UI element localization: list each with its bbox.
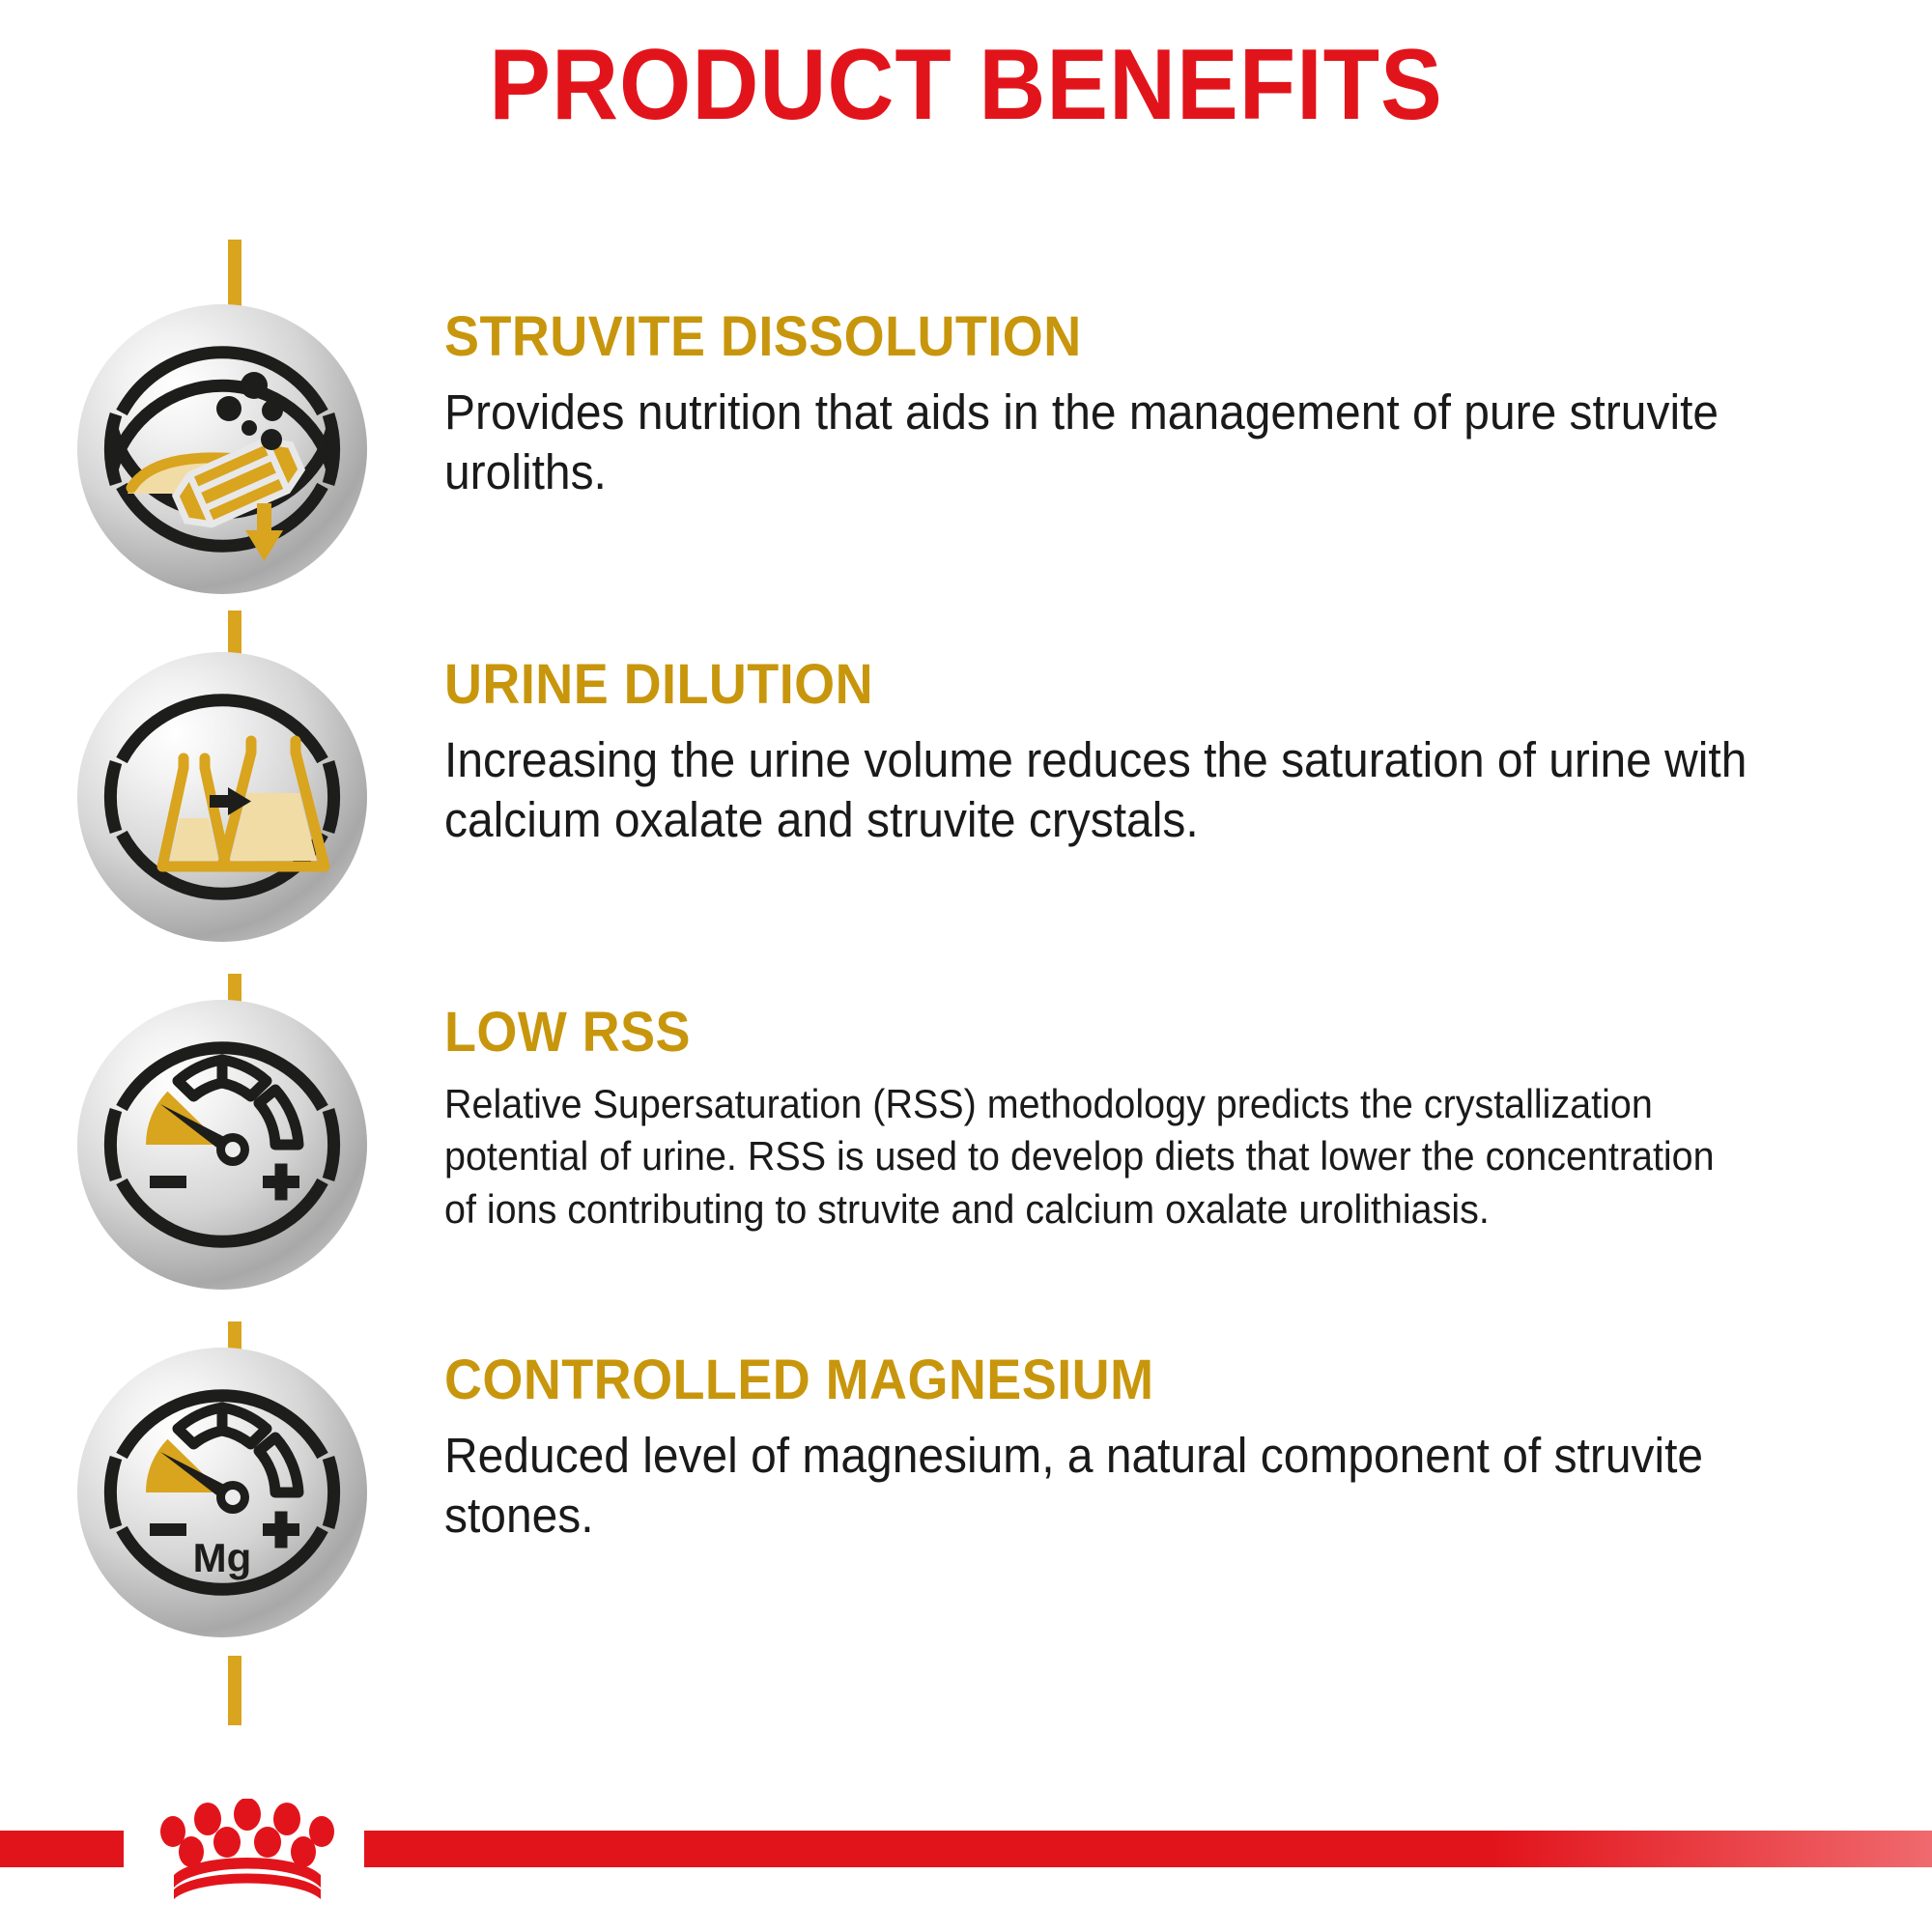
- footer-bar-right: [364, 1831, 1932, 1867]
- benefit-title: CONTROLLED MAGNESIUM: [444, 1351, 1738, 1410]
- benefit-row-urine-dilution: URINE DILUTION Increasing the urine volu…: [0, 652, 1932, 942]
- icon-cell: Mg: [0, 1348, 444, 1637]
- text-cell: URINE DILUTION Increasing the urine volu…: [444, 652, 1932, 850]
- benefit-row-low-rss: LOW RSS Relative Supersaturation (RSS) m…: [0, 1000, 1932, 1290]
- text-cell: STRUVITE DISSOLUTION Provides nutrition …: [444, 304, 1932, 502]
- benefit-body: Provides nutrition that aids in the mana…: [444, 383, 1752, 502]
- benefit-body: Increasing the urine volume reduces the …: [444, 730, 1752, 850]
- product-benefits-infographic: PRODUCT BENEFITS: [0, 0, 1932, 1932]
- low-rss-gauge-icon: [77, 1000, 367, 1290]
- struvite-dissolution-icon: [77, 304, 367, 594]
- gauge-mg-label: Mg: [193, 1535, 252, 1580]
- benefit-title: STRUVITE DISSOLUTION: [444, 308, 1738, 367]
- benefit-body: Relative Supersaturation (RSS) methodolo…: [444, 1078, 1752, 1236]
- gauge-minus-marker: [150, 1523, 186, 1536]
- connector-segment-bottom: [228, 1656, 241, 1725]
- footer-bar-left: [0, 1831, 124, 1867]
- benefit-body: Reduced level of magnesium, a natural co…: [444, 1426, 1752, 1546]
- benefit-title: LOW RSS: [444, 1004, 1738, 1063]
- controlled-magnesium-gauge-icon: Mg: [77, 1348, 367, 1637]
- connector-segment-top: [228, 240, 241, 309]
- gauge-plus-marker: [263, 1512, 299, 1548]
- footer: [0, 1770, 1932, 1932]
- benefit-row-struvite-dissolution: STRUVITE DISSOLUTION Provides nutrition …: [0, 304, 1932, 594]
- icon-cell: [0, 1000, 444, 1290]
- page-title: PRODUCT BENEFITS: [77, 33, 1855, 138]
- benefit-row-controlled-magnesium: Mg CONTROLLED MAGNESIUM Reduced level of…: [0, 1348, 1932, 1637]
- gauge-minus-marker: [150, 1176, 186, 1188]
- text-cell: LOW RSS Relative Supersaturation (RSS) m…: [444, 1000, 1932, 1236]
- royal-canin-crown-logo: [128, 1799, 367, 1903]
- icon-cell: [0, 304, 444, 594]
- gauge-plus-marker: [263, 1164, 299, 1201]
- urine-dilution-icon: [77, 652, 367, 942]
- text-cell: CONTROLLED MAGNESIUM Reduced level of ma…: [444, 1348, 1932, 1546]
- icon-cell: [0, 652, 444, 942]
- benefit-title: URINE DILUTION: [444, 656, 1738, 715]
